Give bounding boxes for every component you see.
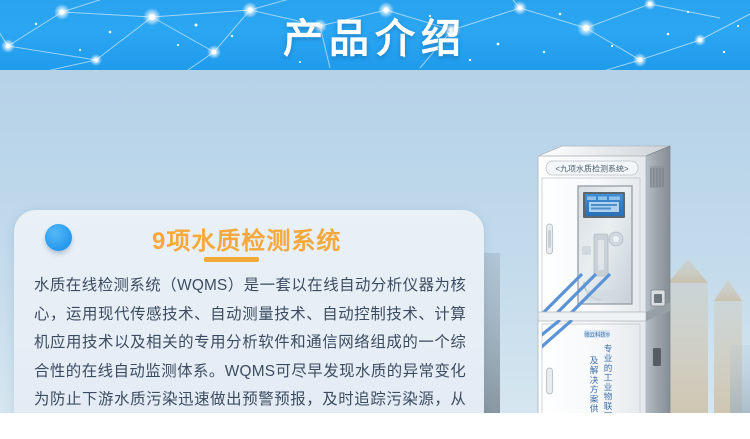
bullet-dot-icon [45, 224, 72, 251]
device-slogan-line-2: 及解决方案供应商 [589, 356, 599, 415]
side-panel-vents [650, 166, 665, 188]
header-banner: 产品介绍 [0, 0, 750, 70]
device-brand-mark: 驰云科技® [584, 331, 610, 339]
content-stage: 9项水质检测系统 水质在线检测系统（WQMS）是一套以在线自动分析仪器为核心，运… [0, 70, 750, 415]
card-heading: 9项水质检测系统 [152, 221, 341, 256]
side-panel-slot [653, 348, 661, 366]
heading-underline [204, 257, 259, 262]
device-slogan-line-1: 专业的工业物联网传感器 [603, 343, 613, 415]
product-description-card: 9项水质检测系统 水质在线检测系统（WQMS）是一套以在线自动分析仪器为核心，运… [14, 210, 484, 415]
card-body-text: 水质在线检测系统（WQMS）是一套以在线自动分析仪器为核心，运用现代传感技术、自… [34, 272, 466, 415]
device-top-label: <九项水质检测系统> [555, 163, 629, 173]
water-quality-analyzer-device: <九项水质检测系统> [520, 142, 745, 415]
product-intro-page: 产品介绍 [0, 0, 750, 439]
page-title: 产品介绍 [0, 0, 750, 70]
bottom-white-strip [0, 413, 750, 439]
